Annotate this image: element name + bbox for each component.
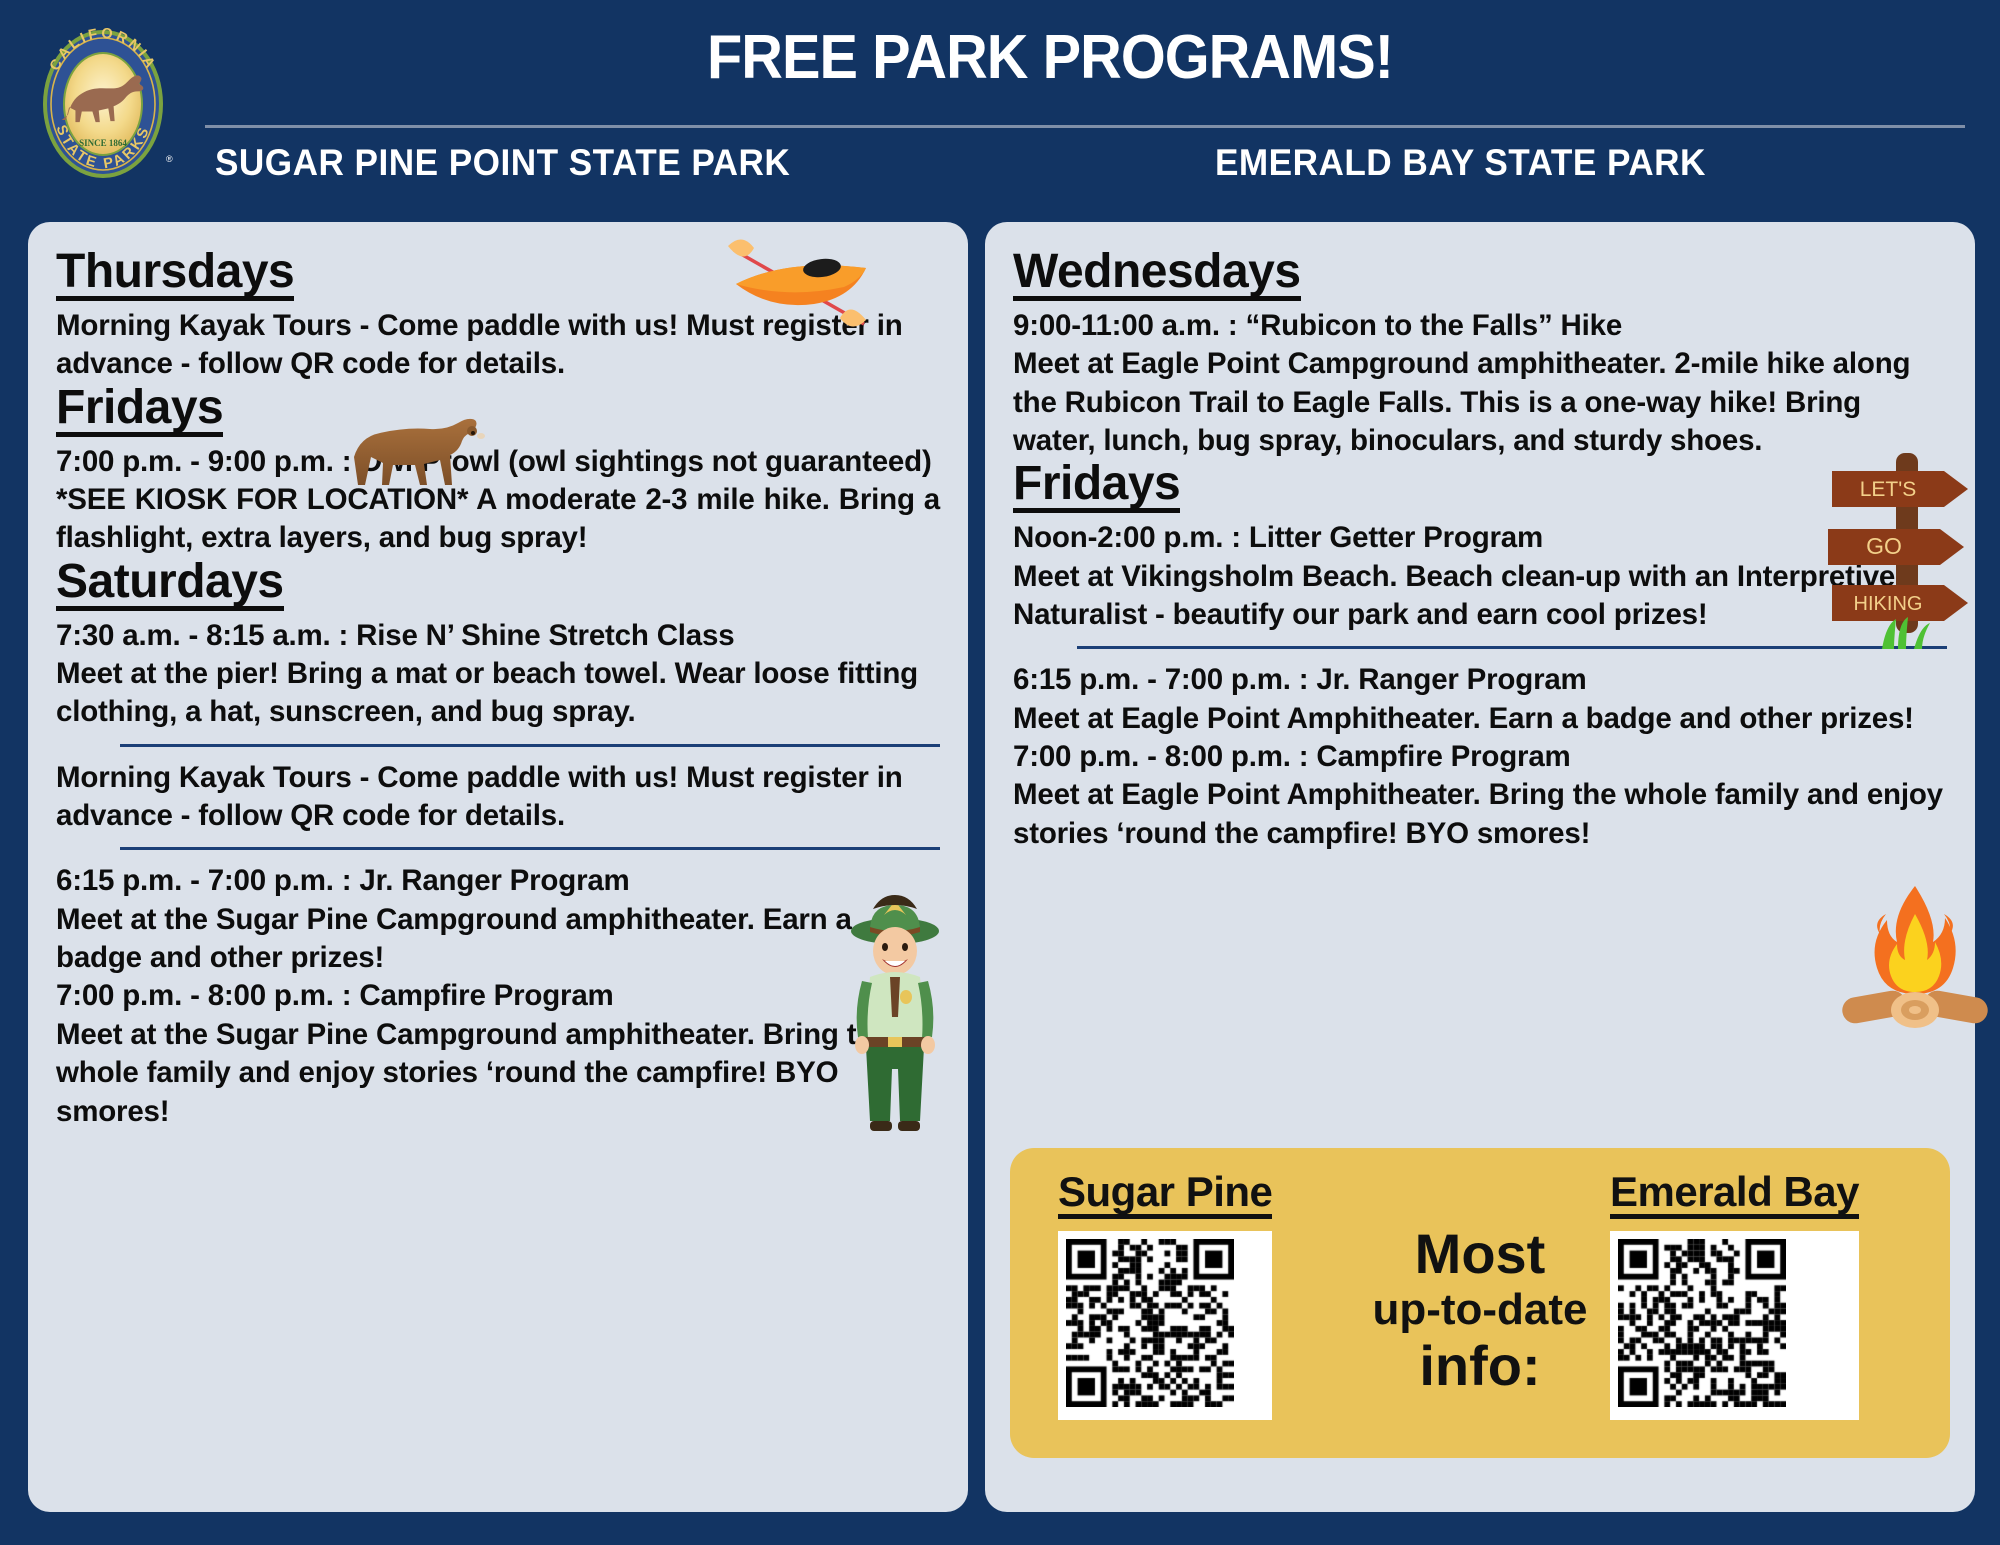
qr-code-sugar-pine[interactable] bbox=[1058, 1231, 1272, 1420]
campfire-icon bbox=[1840, 880, 1990, 1040]
program-text: 7:00 p.m. - 8:00 p.m. : Campfire Program bbox=[56, 977, 940, 1015]
program-text: Morning Kayak Tours - Come paddle with u… bbox=[56, 759, 940, 836]
program-text: Meet at the pier! Bring a mat or beach t… bbox=[56, 655, 940, 732]
signpost-line-2: GO bbox=[1866, 533, 1902, 559]
program-text: Meet at the Sugar Pine Campground amphit… bbox=[56, 1016, 940, 1131]
program-text: 6:15 p.m. - 7:00 p.m. : Jr. Ranger Progr… bbox=[1013, 661, 1947, 699]
title-divider bbox=[205, 125, 1965, 128]
day-heading: Fridays bbox=[1013, 460, 1180, 513]
page-header: SINCE 1864 CALIFORNIA STATE PARKS ® FREE… bbox=[0, 0, 2000, 205]
program-text: Noon-2:00 p.m. : Litter Getter Program bbox=[1013, 519, 1947, 557]
park-ranger-icon bbox=[840, 885, 950, 1135]
qr-label-sugar-pine: Sugar Pine bbox=[1058, 1170, 1272, 1219]
page-title: FREE PARK PROGRAMS! bbox=[539, 22, 1562, 93]
qr-block-emerald-bay[interactable]: Emerald Bay bbox=[1610, 1170, 1859, 1420]
qr-caption-line-3: info: bbox=[1330, 1338, 1630, 1394]
qr-caption-line-1: Most bbox=[1330, 1226, 1630, 1282]
program-text: Meet at Vikingsholm Beach. Beach clean-u… bbox=[1013, 558, 1947, 635]
qr-caption: Most up-to-date info: bbox=[1330, 1226, 1630, 1394]
bear-icon bbox=[340, 405, 500, 515]
program-text: 6:15 p.m. - 7:00 p.m. : Jr. Ranger Progr… bbox=[56, 862, 940, 900]
program-text: Meet at Eagle Point Campground amphithea… bbox=[1013, 345, 1947, 460]
section-divider bbox=[120, 847, 940, 850]
park-name-left: SUGAR PINE POINT STATE PARK bbox=[215, 142, 790, 184]
signpost-icon: LET'S GO HIKING bbox=[1828, 435, 1988, 655]
kayak-icon bbox=[718, 228, 878, 338]
program-text: Meet at the Sugar Pine Campground amphit… bbox=[56, 901, 940, 978]
signpost-line-1: LET'S bbox=[1860, 478, 1917, 501]
qr-info-panel: Sugar Pine Most up-to-date info: Emerald… bbox=[1010, 1148, 1950, 1458]
day-heading: Saturdays bbox=[56, 558, 284, 611]
program-text: 7:00 p.m. - 8:00 p.m. : Campfire Program bbox=[1013, 738, 1947, 776]
park-name-right: EMERALD BAY STATE PARK bbox=[1215, 142, 1706, 184]
section-divider bbox=[1077, 646, 1947, 649]
qr-block-sugar-pine[interactable]: Sugar Pine bbox=[1058, 1170, 1272, 1420]
program-text: Meet at Eagle Point Amphitheater. Earn a… bbox=[1013, 700, 1947, 738]
signpost-line-3: HIKING bbox=[1854, 593, 1923, 615]
day-heading: Thursdays bbox=[56, 248, 294, 301]
qr-caption-line-2: up-to-date bbox=[1330, 1288, 1630, 1332]
day-heading: Fridays bbox=[56, 384, 223, 437]
program-text: Meet at Eagle Point Amphitheater. Bring … bbox=[1013, 776, 1947, 853]
day-heading: Wednesdays bbox=[1013, 248, 1301, 301]
program-text: 9:00-11:00 a.m. : “Rubicon to the Falls”… bbox=[1013, 307, 1947, 345]
section-divider bbox=[120, 744, 940, 747]
qr-code-emerald-bay[interactable] bbox=[1610, 1231, 1859, 1420]
program-text: 7:30 a.m. - 8:15 a.m. : Rise N’ Shine St… bbox=[56, 617, 940, 655]
qr-label-emerald-bay: Emerald Bay bbox=[1610, 1170, 1859, 1219]
